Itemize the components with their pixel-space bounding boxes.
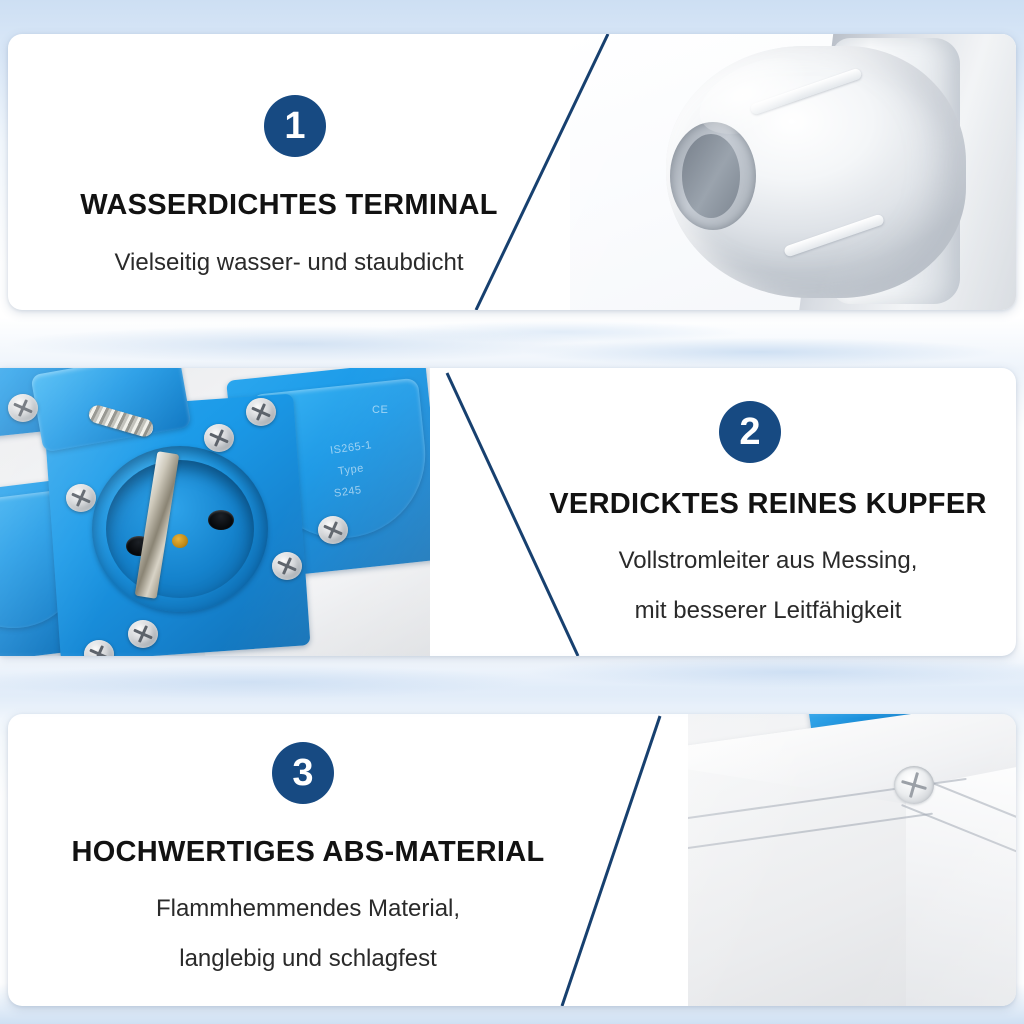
mounting-screw — [66, 484, 96, 512]
feature-title-2: VERDICKTES REINES KUPFER — [520, 488, 1016, 521]
gland-bore-inner — [682, 134, 740, 218]
feature-subtitle-3-line-2: langlebig und schlagfest — [8, 940, 608, 977]
socket-well — [106, 460, 254, 598]
blue-socket-photo: CE IS265-1 Type S245 — [0, 368, 430, 656]
infographic-page: 1 WASSERDICHTES TERMINAL Vielseitig wass… — [0, 0, 1024, 1024]
mounting-screw — [246, 398, 276, 426]
ce-mark-emboss: CE — [372, 404, 388, 416]
feature-title-3: HOCHWERTIGES ABS-MATERIAL — [8, 836, 608, 869]
feature-number-badge-1: 1 — [264, 95, 326, 157]
feature-subtitle-3-line-1: Flammhemmendes Material, — [8, 890, 608, 927]
feature-subtitle-1-line-1: Vielseitig wasser- und staubdicht — [8, 244, 570, 281]
feature-number-badge-3: 3 — [272, 742, 334, 804]
feature-subtitle-2-line-1: Vollstromleiter aus Messing, — [520, 542, 1016, 579]
feature-title-1: WASSERDICHTES TERMINAL — [8, 189, 570, 222]
abs-enclosure-photo — [688, 714, 1016, 1006]
mounting-screw — [204, 424, 234, 452]
mounting-screw — [8, 394, 38, 422]
mounting-screw — [128, 620, 158, 648]
feature-panel-2: CE IS265-1 Type S245 2 VERDICKTES REINES… — [0, 368, 1016, 656]
socket-pin-hole-right — [208, 510, 234, 530]
feature-panel-3: 3 HOCHWERTIGES ABS-MATERIAL Flammhemmend… — [8, 714, 1016, 1006]
brass-screw — [172, 534, 188, 548]
mounting-screw — [318, 516, 348, 544]
cable-gland-photo — [570, 34, 1016, 310]
feature-number-badge-2: 2 — [719, 401, 781, 463]
enclosure-corner-screw — [894, 766, 934, 804]
mounting-screw — [272, 552, 302, 580]
feature-subtitle-2-line-2: mit besserer Leitfähigkeit — [520, 592, 1016, 629]
feature-panel-1: 1 WASSERDICHTES TERMINAL Vielseitig wass… — [8, 34, 1016, 310]
